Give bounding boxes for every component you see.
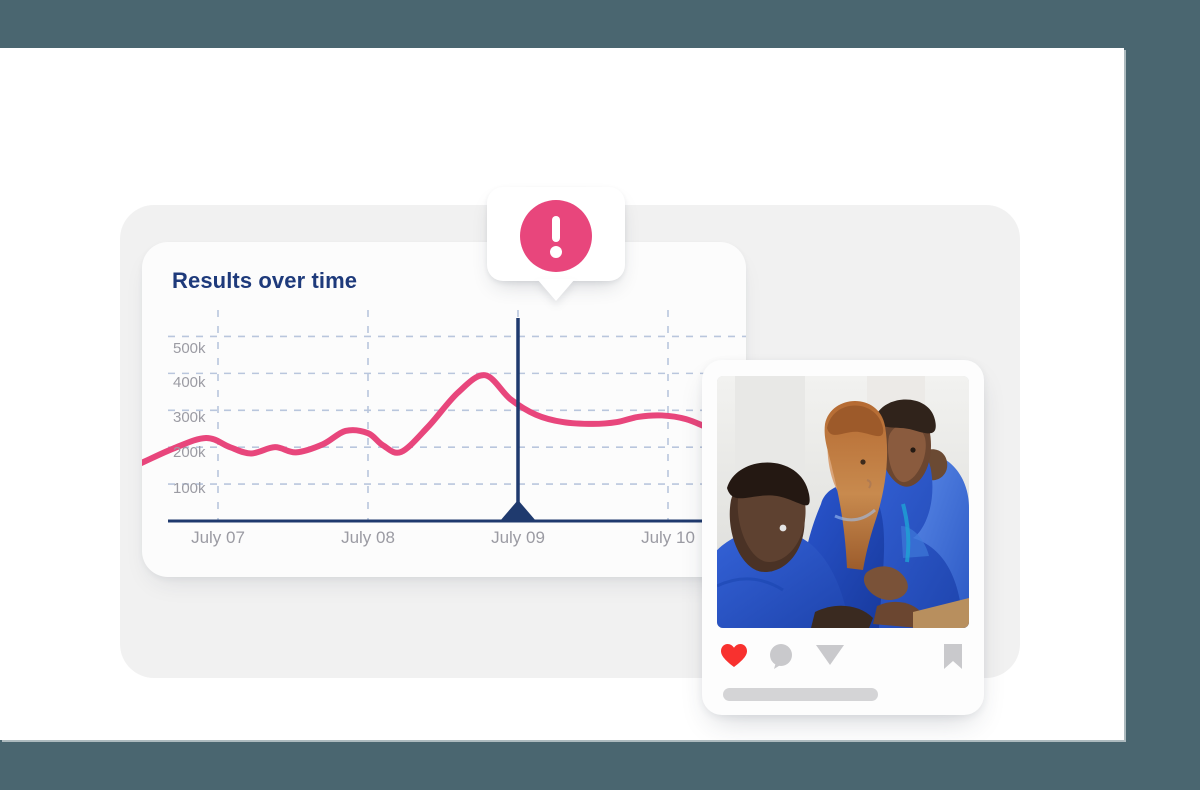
page-canvas: Results over time 500k 400k — [0, 48, 1124, 740]
exclamation-bar — [552, 216, 560, 242]
x-tick-label: July 07 — [191, 528, 245, 548]
y-tick-label: 300k — [173, 409, 206, 426]
comment-icon[interactable] — [768, 643, 796, 670]
results-chart-plot — [142, 242, 746, 577]
like-icon[interactable] — [720, 643, 748, 669]
post-action-bar — [720, 643, 966, 671]
share-icon[interactable] — [815, 643, 845, 667]
y-tick-label: 400k — [173, 374, 206, 391]
x-tick-label: July 10 — [641, 528, 695, 548]
series-actual-line — [142, 375, 746, 480]
results-chart-card: Results over time 500k 400k — [142, 242, 746, 577]
horizontal-gridlines — [168, 336, 746, 484]
y-tick-label: 200k — [173, 444, 206, 461]
social-post-card[interactable] — [702, 360, 984, 715]
alert-callout-tail — [537, 279, 575, 301]
caption-placeholder-bar — [723, 688, 878, 701]
outer-frame: Results over time 500k 400k — [0, 0, 1200, 790]
exclamation-dot — [550, 246, 562, 258]
y-tick-label: 500k — [173, 340, 206, 357]
x-tick-label: July 08 — [341, 528, 395, 548]
marker-triangle[interactable] — [500, 500, 536, 521]
post-photo — [717, 376, 969, 628]
x-tick-label: July 09 — [491, 528, 545, 548]
y-tick-label: 100k — [173, 480, 206, 497]
bookmark-icon[interactable] — [942, 643, 964, 670]
vertical-gridlines — [218, 310, 668, 521]
